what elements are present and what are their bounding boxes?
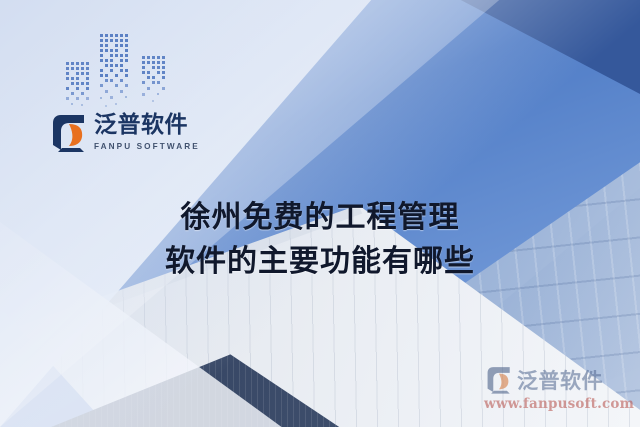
brand-name-en: FANPU SOFTWARE xyxy=(94,142,200,151)
fanpu-f-mark-icon xyxy=(48,112,90,154)
page-title: 徐州免费的工程管理 软件的主要功能有哪些 xyxy=(0,196,640,284)
pixel-skyline-icon xyxy=(62,26,174,114)
fanpu-f-mark-icon xyxy=(484,365,514,395)
banner-image: 泛普软件 FANPU SOFTWARE 徐州免费的工程管理 软件的主要功能有哪些… xyxy=(0,0,640,427)
brand-wordmark: 泛普软件 FANPU SOFTWARE xyxy=(94,114,200,153)
brand-logo: 泛普软件 FANPU SOFTWARE xyxy=(48,108,180,158)
watermark: 泛普软件 www.fanpusoft.com xyxy=(484,365,632,413)
watermark-brand-name: 泛普软件 xyxy=(517,365,603,395)
watermark-logo-row: 泛普软件 xyxy=(484,365,632,395)
page-title-line-2: 软件的主要功能有哪些 xyxy=(0,240,640,284)
page-title-line-1: 徐州免费的工程管理 xyxy=(0,196,640,240)
watermark-url: www.fanpusoft.com xyxy=(484,396,634,412)
brand-name-cn: 泛普软件 xyxy=(94,112,188,138)
